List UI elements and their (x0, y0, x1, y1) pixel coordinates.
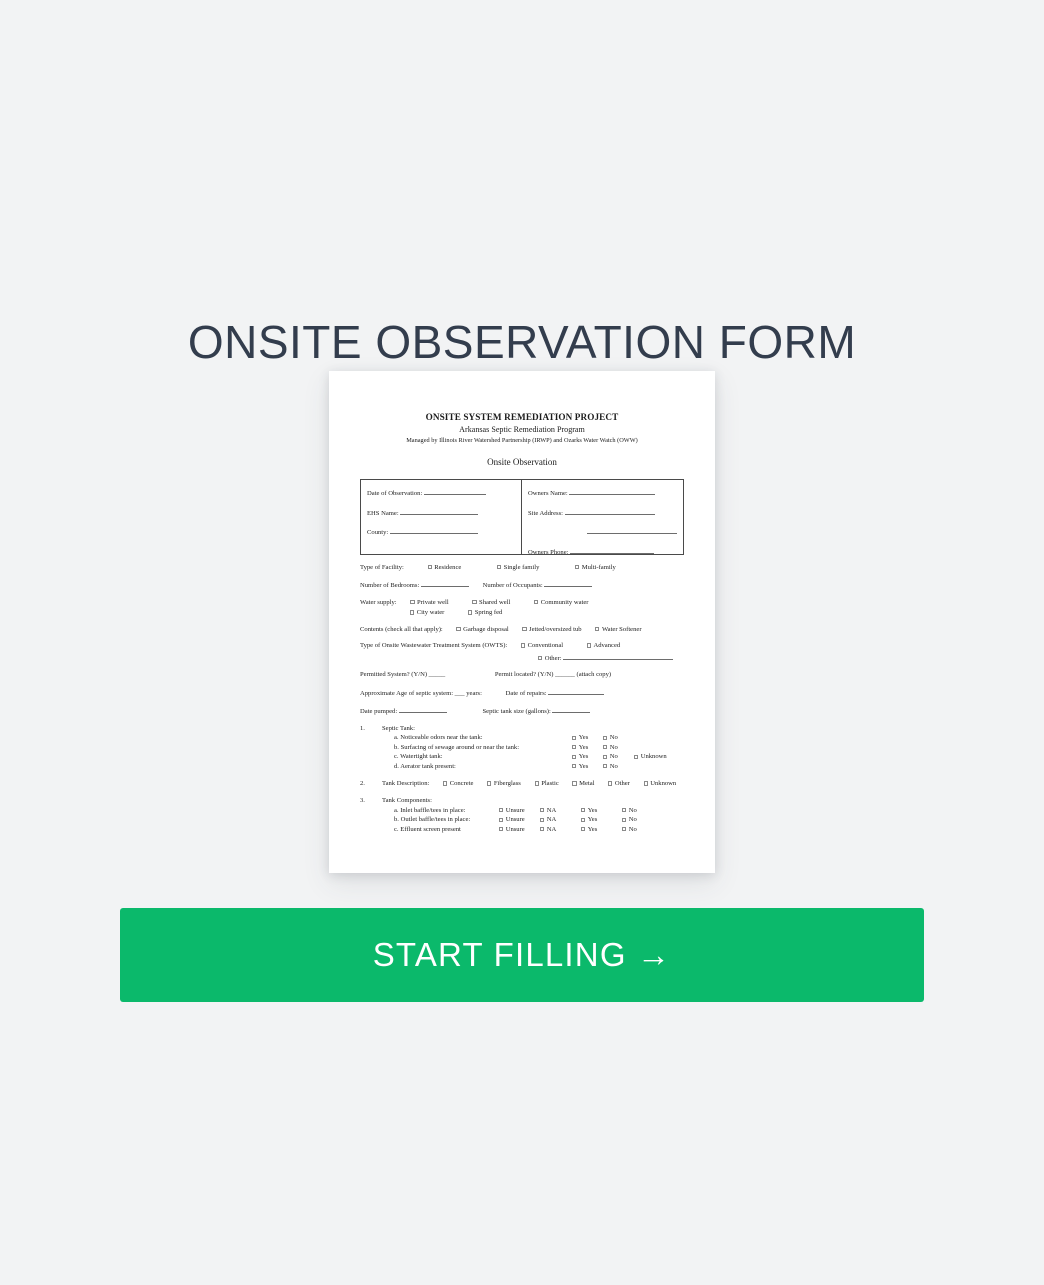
document-managed-by: Managed by Illinois River Watershed Part… (329, 436, 715, 445)
option-na[interactable]: NA (540, 815, 581, 824)
option-label: NA (547, 826, 557, 833)
checkbox-icon[interactable] (443, 781, 447, 785)
document-heading: ONSITE SYSTEM REMEDIATION PROJECT (329, 411, 715, 423)
option-plastic: Plastic (541, 780, 559, 787)
field-date-of-observation[interactable]: Date of Observation: (367, 487, 515, 498)
option-label: Unsure (506, 807, 525, 814)
option-spring-fed: Spring fed (475, 609, 503, 616)
field-input-line[interactable] (569, 487, 655, 495)
checkbox-icon[interactable] (622, 808, 626, 812)
row-label: d. Aerator tank present: (394, 762, 572, 771)
option-label: Yes (588, 816, 598, 823)
option-other-label: Other: (545, 655, 562, 662)
row-label: c. Effluent screen present (394, 825, 499, 834)
option-na[interactable]: NA (540, 825, 581, 834)
row-label: c. Watertight tank: (394, 752, 572, 761)
section-title: Tank Description: (382, 780, 429, 787)
row-label: Water supply: (360, 599, 397, 606)
checkbox-icon[interactable] (499, 818, 503, 822)
label-date-of-repairs: Date of repairs: (506, 690, 547, 697)
row-label: Type of Facility: (360, 564, 404, 571)
option-label: Yes (588, 807, 598, 814)
label-date-pumped: Date pumped: (360, 708, 397, 715)
checkbox-icon[interactable] (499, 808, 503, 812)
section-title: Septic Tank: (382, 724, 684, 733)
option-label: No (629, 807, 637, 814)
label-permitted-system: Permitted System? (Y/N) _____ (360, 671, 445, 678)
row-owts: Type of Onsite Wastewater Treatment Syst… (360, 641, 684, 650)
field-ehs-name[interactable]: EHS Name: (367, 507, 515, 518)
field-input-line[interactable] (399, 705, 447, 713)
section-number: 2. (360, 779, 382, 788)
option-metal: Metal (579, 780, 594, 787)
checkbox-icon[interactable] (572, 764, 576, 768)
section-body: Tank Description: Concrete Fiberglass Pl… (382, 779, 676, 788)
checkbox-icon[interactable] (572, 736, 576, 740)
field-label: Site Address: (528, 510, 563, 517)
option-unknown: Unknown (650, 780, 676, 787)
info-table-left-column: Date of Observation: EHS Name: County: (361, 480, 522, 554)
field-input-line[interactable] (421, 579, 469, 587)
option-private-well: Private well (417, 599, 449, 606)
checkbox-icon[interactable] (575, 565, 579, 569)
section-tank-components: 3. Tank Components: a. Inlet baffle/tees… (360, 796, 684, 834)
option-other: Other (615, 780, 630, 787)
checkbox-icon[interactable] (497, 565, 501, 569)
option-multi-family: Multi-family (582, 564, 616, 571)
checkbox-icon[interactable] (499, 827, 503, 831)
row-contents: Contents (check all that apply): Garbage… (360, 625, 684, 634)
checkbox-icon[interactable] (410, 600, 414, 604)
label-permit-located: Permit located? (Y/N) ______ (attach cop… (495, 671, 611, 678)
row-type-of-facility: Type of Facility: Residence Single famil… (360, 563, 684, 572)
option-unsure[interactable]: Unsure (499, 806, 540, 815)
checkbox-icon[interactable] (534, 600, 538, 604)
checkbox-icon[interactable] (603, 755, 607, 759)
option-label: Yes (588, 826, 598, 833)
checkbox-icon[interactable] (540, 827, 544, 831)
page-root: ONSITE OBSERVATION FORM ONSITE SYSTEM RE… (0, 0, 1044, 1285)
option-label: Yes (579, 734, 589, 741)
section-row: b. Surfacing of sewage around or near th… (394, 743, 684, 752)
option-yes[interactable]: Yes (581, 815, 622, 824)
option-no[interactable]: No (622, 806, 663, 815)
checkbox-icon[interactable] (535, 781, 539, 785)
checkbox-icon[interactable] (644, 781, 648, 785)
option-jetted-tub: Jetted/oversized tub (529, 626, 582, 633)
field-site-address[interactable]: Site Address: (528, 507, 677, 518)
field-input-line[interactable] (570, 546, 654, 554)
row-water-supply-2: City water Spring fed (410, 608, 684, 617)
option-label: Unsure (506, 826, 525, 833)
document-preview-card[interactable]: ONSITE SYSTEM REMEDIATION PROJECT Arkans… (329, 371, 715, 873)
start-filling-button[interactable]: START FILLING → (120, 908, 924, 1002)
label-approx-age: Approximate Age of septic system: ___ ye… (360, 690, 482, 697)
row-label: b. Surfacing of sewage around or near th… (394, 743, 572, 752)
document-page: ONSITE SYSTEM REMEDIATION PROJECT Arkans… (329, 371, 715, 873)
option-na[interactable]: NA (540, 806, 581, 815)
checkbox-icon[interactable] (572, 745, 576, 749)
checkbox-icon[interactable] (521, 643, 525, 647)
option-unknown[interactable]: Unknown (634, 752, 665, 761)
checkbox-icon[interactable] (622, 818, 626, 822)
field-input-line[interactable] (548, 687, 604, 695)
section-number: 1. (360, 724, 382, 733)
label-tank-size: Septic tank size (gallons): (482, 708, 550, 715)
option-single-family: Single family (504, 564, 540, 571)
option-no[interactable]: No (603, 762, 634, 771)
section-row: c. Watertight tank: Yes No Unknown (394, 752, 684, 761)
option-no[interactable]: No (603, 733, 634, 742)
checkbox-icon[interactable] (595, 627, 599, 631)
option-yes[interactable]: Yes (572, 743, 603, 752)
row-label: a. Inlet baffle/tees in place: (394, 806, 499, 815)
field-input-line[interactable] (390, 526, 478, 534)
option-label: Yes (579, 753, 589, 760)
checkbox-icon[interactable] (608, 781, 612, 785)
option-yes[interactable]: Yes (572, 733, 603, 742)
option-label: Unsure (506, 816, 525, 823)
option-yes[interactable]: Yes (581, 806, 622, 815)
checkbox-icon[interactable] (622, 827, 626, 831)
option-shared-well: Shared well (479, 599, 510, 606)
checkbox-icon[interactable] (603, 764, 607, 768)
option-label: No (629, 826, 637, 833)
checkbox-icon[interactable] (472, 600, 476, 604)
info-table-right-column: Owners Name: Site Address: Owners Phone: (522, 480, 683, 554)
section-title: Tank Components: (382, 796, 684, 805)
checkbox-icon[interactable] (540, 818, 544, 822)
option-advanced: Advanced (593, 642, 620, 649)
option-concrete: Concrete (450, 780, 474, 787)
row-bedrooms-occupants: Number of Bedrooms: Number of Occupants: (360, 579, 684, 590)
checkbox-icon[interactable] (587, 643, 591, 647)
label-occupants: Number of Occupants: (483, 582, 543, 589)
row-label: b. Outlet baffle/tees in place: (394, 815, 499, 824)
document-section-title: Onsite Observation (329, 456, 715, 468)
section-row: a. Noticeable odors near the tank: Yes N… (394, 733, 684, 742)
field-owners-phone[interactable]: Owners Phone: (528, 546, 677, 557)
field-site-address-line2[interactable] (528, 526, 677, 537)
section-number: 3. (360, 796, 382, 805)
checkbox-icon[interactable] (581, 808, 585, 812)
option-label: Yes (579, 763, 589, 770)
option-garbage-disposal: Garbage disposal (463, 626, 509, 633)
option-community-water: Community water (541, 599, 589, 606)
section-row: c. Effluent screen present Unsure NA Yes… (394, 825, 684, 834)
row-permit: Permitted System? (Y/N) _____ Permit loc… (360, 670, 684, 679)
field-input-line[interactable] (552, 705, 590, 713)
option-label: Unknown (641, 753, 667, 760)
section-header: 2. Tank Description: Concrete Fiberglass… (360, 779, 684, 788)
option-yes[interactable]: Yes (572, 752, 603, 761)
start-filling-label: START FILLING → (373, 936, 672, 974)
checkbox-icon[interactable] (522, 627, 526, 631)
checkbox-icon[interactable] (538, 656, 542, 660)
option-unsure[interactable]: Unsure (499, 815, 540, 824)
checkbox-icon[interactable] (581, 827, 585, 831)
field-input-line[interactable] (400, 507, 478, 515)
checkbox-icon[interactable] (410, 610, 414, 614)
field-label: EHS Name: (367, 510, 399, 517)
field-label: Owners Phone: (528, 549, 568, 556)
section-header: 1. Septic Tank: (360, 724, 684, 733)
option-conventional: Conventional (528, 642, 564, 649)
field-label: County: (367, 529, 388, 536)
option-label: No (610, 744, 618, 751)
field-input-line[interactable] (544, 579, 592, 587)
option-label: No (610, 763, 618, 770)
checkbox-icon[interactable] (540, 808, 544, 812)
option-no[interactable]: No (603, 752, 634, 761)
section-header: 3. Tank Components: (360, 796, 684, 805)
field-owners-name[interactable]: Owners Name: (528, 487, 677, 498)
option-label: Yes (579, 744, 589, 751)
row-label: Type of Onsite Wastewater Treatment Syst… (360, 642, 507, 649)
option-fiberglass: Fiberglass (494, 780, 521, 787)
option-no[interactable]: No (603, 743, 634, 752)
field-input-line[interactable] (563, 652, 673, 660)
row-label: a. Noticeable odors near the tank: (394, 733, 572, 742)
option-yes[interactable]: Yes (572, 762, 603, 771)
option-yes[interactable]: Yes (581, 825, 622, 834)
row-pumped-size: Date pumped: Septic tank size (gallons): (360, 705, 684, 716)
row-owts-other: Other: (538, 652, 684, 663)
checkbox-icon[interactable] (456, 627, 460, 631)
checkbox-icon[interactable] (603, 745, 607, 749)
field-label: Owners Name: (528, 490, 568, 497)
option-label: No (610, 753, 618, 760)
section-row: d. Aerator tank present: Yes No (394, 762, 684, 771)
checkbox-icon[interactable] (487, 781, 491, 785)
option-label: NA (547, 807, 557, 814)
field-input-line[interactable] (565, 507, 655, 515)
section-septic-tank: 1. Septic Tank: a. Noticeable odors near… (360, 724, 684, 771)
option-label: NA (547, 816, 557, 823)
field-input-line[interactable] (424, 487, 486, 495)
option-label: No (610, 734, 618, 741)
checkbox-icon[interactable] (572, 755, 576, 759)
section-row: a. Inlet baffle/tees in place: Unsure NA… (394, 806, 684, 815)
option-residence: Residence (434, 564, 461, 571)
checkbox-icon[interactable] (634, 755, 638, 759)
page-title: ONSITE OBSERVATION FORM (0, 313, 1044, 371)
checkbox-icon[interactable] (428, 565, 432, 569)
checkbox-icon[interactable] (603, 736, 607, 740)
option-no[interactable]: No (622, 815, 663, 824)
document-subheading: Arkansas Septic Remediation Program (329, 424, 715, 435)
info-table: Date of Observation: EHS Name: County: (360, 479, 684, 555)
section-row: b. Outlet baffle/tees in place: Unsure N… (394, 815, 684, 824)
row-age-repairs: Approximate Age of septic system: ___ ye… (360, 687, 684, 698)
label-bedrooms: Number of Bedrooms: (360, 582, 419, 589)
field-county[interactable]: County: (367, 526, 515, 537)
row-label: Contents (check all that apply): (360, 626, 443, 633)
option-city-water: City water (417, 609, 445, 616)
field-input-line[interactable] (587, 526, 677, 534)
field-label: Date of Observation: (367, 490, 422, 497)
section-tank-description: 2. Tank Description: Concrete Fiberglass… (360, 779, 684, 788)
row-water-supply: Water supply: Private well Shared well C… (360, 598, 684, 607)
checkbox-icon[interactable] (581, 818, 585, 822)
option-unsure[interactable]: Unsure (499, 825, 540, 834)
document-body: Date of Observation: EHS Name: County: (360, 479, 684, 834)
option-label: No (629, 816, 637, 823)
option-water-softener: Water Softener (602, 626, 642, 633)
checkbox-icon[interactable] (572, 781, 576, 785)
option-no[interactable]: No (622, 825, 663, 834)
checkbox-icon[interactable] (468, 610, 472, 614)
